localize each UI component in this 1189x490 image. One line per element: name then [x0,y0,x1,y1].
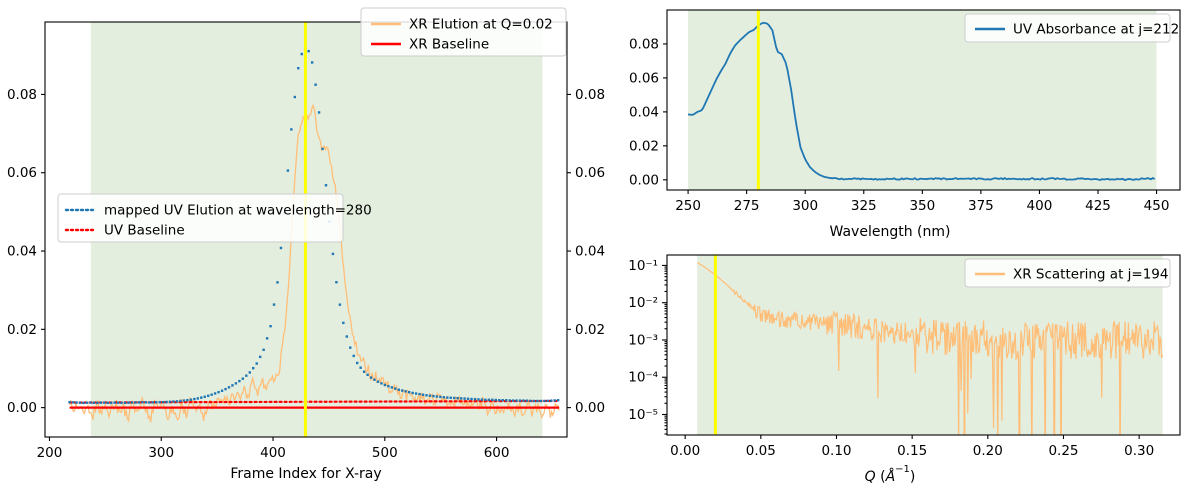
x-tick-label: 0.25 [1048,443,1078,459]
x-tick-label: 400 [260,445,286,461]
y-tick-label: 10⁻¹ [628,258,658,274]
x-tick-label: 350 [909,198,935,214]
x-tick-label: 400 [1027,198,1053,214]
xr-svg: 0.000.050.100.150.200.250.3010⁻¹10⁻²10⁻³… [600,245,1189,490]
y-tick-label: 0.02 [7,322,37,338]
y-tick-label: 0.04 [629,104,659,120]
x-tick-label: 200 [37,445,63,461]
x-tick-label: 275 [734,198,760,214]
elution-panel: 2003004005006000.000.000.020.020.040.040… [0,0,600,490]
y-tick-label: 0.06 [7,165,37,181]
x-tick-label: 425 [1085,198,1111,214]
uv-absorbance-panel: 2502753003253503754004254500.000.020.040… [600,0,1189,245]
legend-uv-absorbance[interactable]: UV Absorbance at j=212 [965,14,1179,42]
x-axis-label: Wavelength (nm) [830,224,951,240]
x-tick-label: 600 [484,445,510,461]
x-tick-label: 0.05 [746,443,776,459]
y-tick-label: 0.06 [629,70,659,86]
y-tick-label: 10⁻³ [628,332,658,348]
y-tick-label: 0.02 [629,138,659,154]
elution-svg: 2003004005006000.000.000.020.020.040.040… [0,0,600,490]
legend-uv[interactable]: mapped UV Elution at wavelength=280UV Ba… [58,194,372,242]
x-tick-label: 0.00 [670,443,700,459]
y-tick-label: 0.08 [7,87,37,103]
legend-label: XR Scattering at j=194 [1013,267,1168,283]
legend-label: XR Elution at Q=0.02 [409,17,553,33]
x-axis-label: Q (Å−1) [865,464,916,486]
x-tick-label: 0.15 [897,443,927,459]
xr-scattering-panel: 0.000.050.100.150.200.250.3010⁻¹10⁻²10⁻³… [600,245,1189,490]
y-tick-label: 0.04 [7,244,37,260]
y-tick-label: 0.00 [629,172,659,188]
x-tick-label: 450 [1144,198,1170,214]
x-tick-label: 300 [792,198,818,214]
y-tick-label: 10⁻² [628,295,658,311]
legend-label: XR Baseline [409,37,489,53]
uv-svg: 2502753003253503754004254500.000.020.040… [600,0,1189,245]
y-tick-label: 0.00 [7,400,37,416]
x-tick-label: 250 [675,198,701,214]
x-axis-label: Frame Index for X-ray [230,466,381,482]
y-tick-label: 10⁻⁴ [628,370,658,386]
x-tick-label: 0.20 [973,443,1003,459]
x-tick-label: 300 [148,445,174,461]
y-tick-label: 10⁻⁵ [628,407,658,423]
legend-label: UV Baseline [104,223,185,239]
legend-label: mapped UV Elution at wavelength=280 [104,203,372,219]
x-tick-label: 325 [851,198,877,214]
x-tick-label: 0.30 [1124,443,1154,459]
x-tick-label: 375 [968,198,994,214]
x-tick-label: 0.10 [821,443,851,459]
legend-label: UV Absorbance at j=212 [1013,22,1179,38]
matplotlib-figure: 2003004005006000.000.000.020.020.040.040… [0,0,1189,490]
legend-xr-scattering[interactable]: XR Scattering at j=194 [965,259,1170,287]
legend-xr[interactable]: XR Elution at Q=0.02XR Baseline [361,8,566,56]
x-tick-label: 500 [372,445,398,461]
y-tick-label: 0.08 [629,36,659,52]
